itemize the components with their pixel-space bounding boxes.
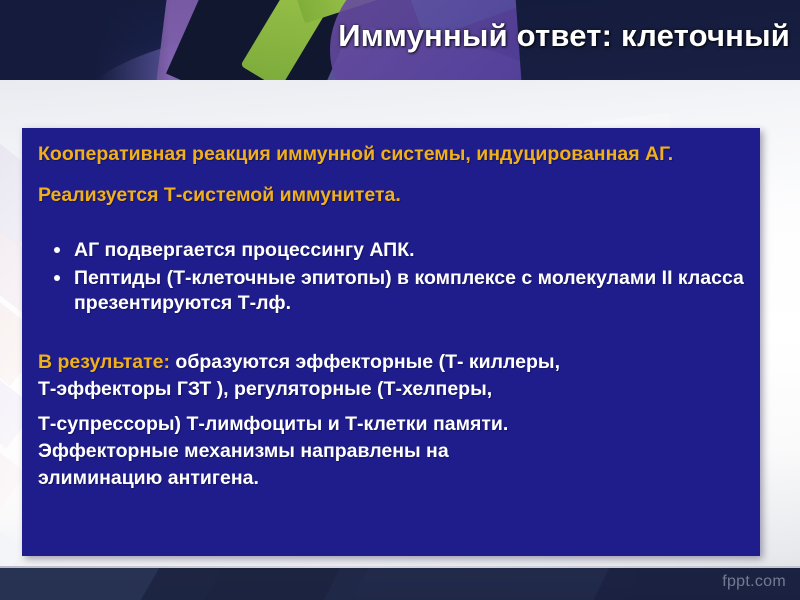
list-item-text: Пептиды (Т-клеточные эпитопы) в комплекс…	[74, 267, 744, 314]
watermark-label: fppt.com	[722, 573, 786, 591]
result-line-1: В результате: образуются эффекторные (Т-…	[38, 350, 744, 375]
list-item: АГ подвергается процессингу АПК.	[52, 238, 744, 263]
result-paragraph: В результате: образуются эффекторные (Т-…	[38, 350, 744, 491]
result-line-5: элиминацию антигена.	[38, 466, 744, 491]
content-panel: Кооперативная реакция иммунной системы, …	[22, 128, 760, 556]
footer-band: fppt.com	[0, 568, 800, 600]
result-line-2: Т-эффекторы ГЗТ ), регуляторные (Т-хелпе…	[38, 377, 744, 402]
list-item: Пептиды (Т-клеточные эпитопы) в комплекс…	[52, 266, 744, 316]
lead-paragraph-2: Реализуется Т-системой иммунитета.	[38, 183, 744, 208]
list-item-text: АГ подвергается процессингу АПК.	[74, 239, 415, 261]
result-highlight: В результате:	[38, 351, 170, 373]
lead-paragraph-1: Кооперативная реакция иммунной системы, …	[38, 142, 744, 167]
bullet-list: АГ подвергается процессингу АПК. Пептиды…	[38, 238, 744, 316]
bullet-dot-icon	[54, 275, 60, 281]
result-line-4: Эффекторные механизмы направлены на	[38, 439, 744, 464]
result-line-1-text: образуются эффекторные (Т- киллеры,	[170, 351, 560, 373]
bullet-dot-icon	[54, 247, 60, 253]
slide: Иммунный ответ: клеточный Кооперативная …	[0, 0, 800, 600]
slide-title: Иммунный ответ: клеточный	[0, 18, 790, 54]
result-line-3: Т-супрессоры) Т-лимфоциты и Т-клетки пам…	[38, 412, 744, 437]
